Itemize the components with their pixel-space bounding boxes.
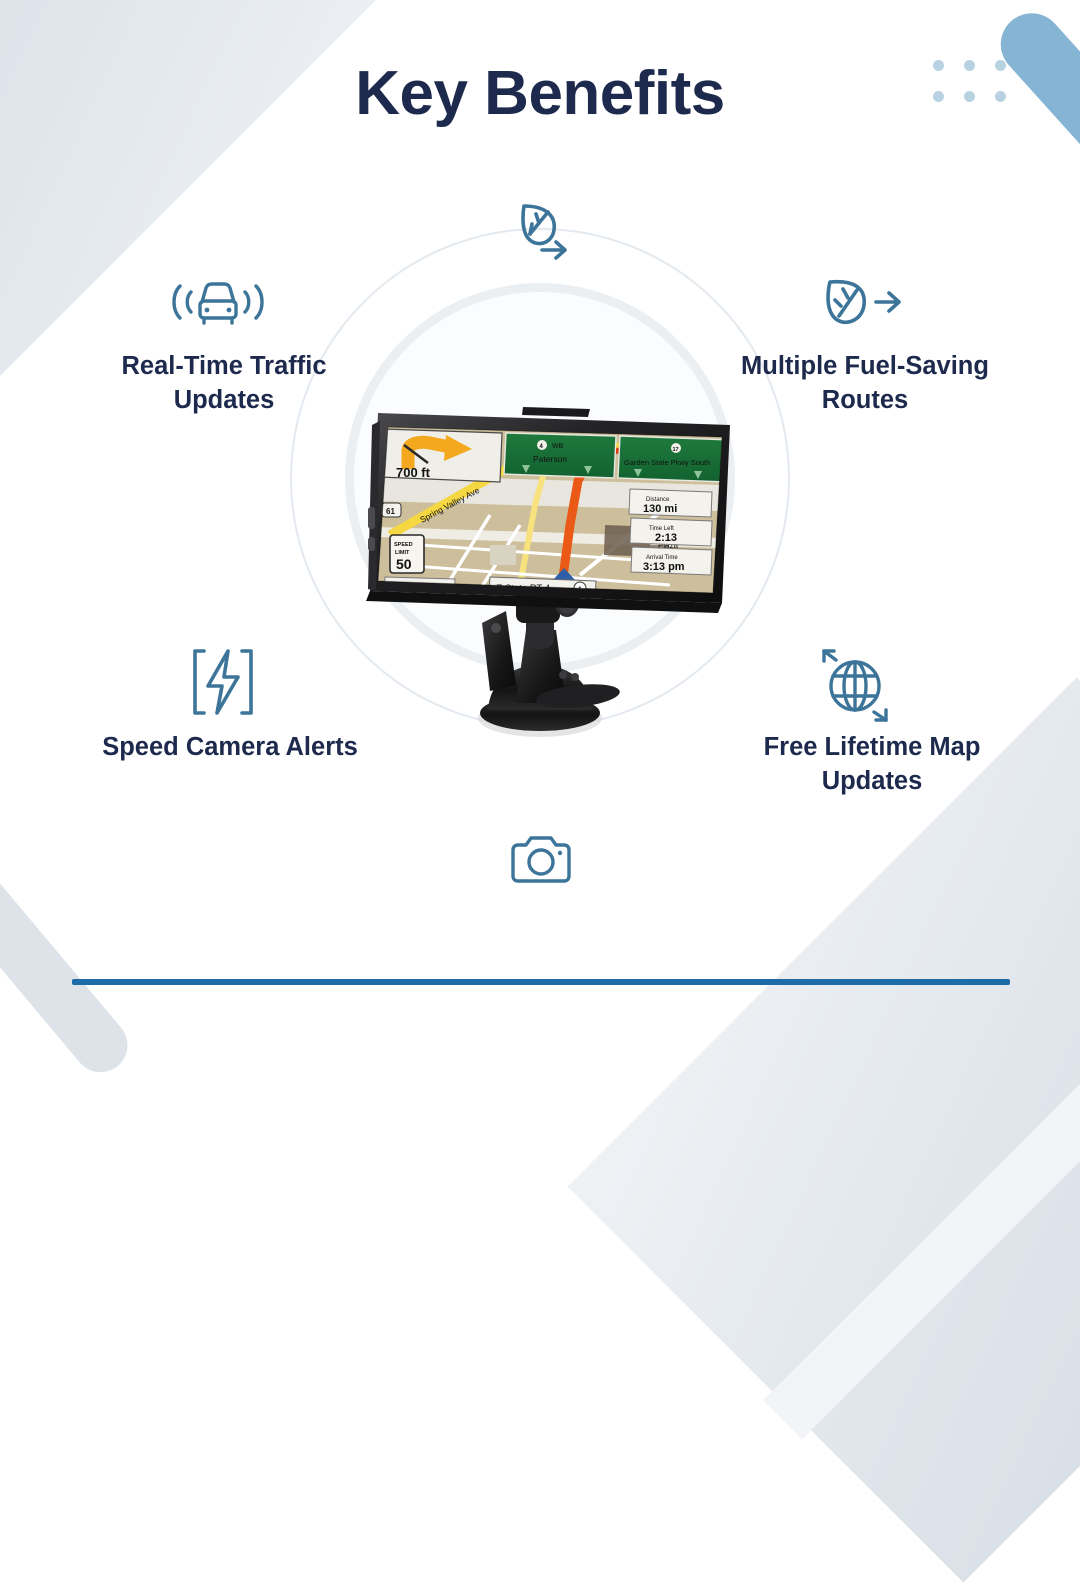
lightning-bolt-bracket-icon xyxy=(186,644,260,720)
benefit-label-speed-camera-alerts: Speed Camera Alerts xyxy=(80,731,380,765)
car-signal-icon xyxy=(166,272,270,334)
svg-text:Garden State Pkwy South: Garden State Pkwy South xyxy=(624,458,710,467)
svg-text:17: 17 xyxy=(673,447,679,453)
globe-expand-icon xyxy=(812,646,896,724)
svg-text:130 mi: 130 mi xyxy=(643,503,677,515)
svg-text:50: 50 xyxy=(396,556,412,572)
bottom-divider-rule xyxy=(72,979,1010,985)
page-title: Key Benefits xyxy=(0,58,1080,129)
svg-text:3:13 pm: 3:13 pm xyxy=(643,561,685,573)
leaf-arrow-icon xyxy=(818,272,904,332)
bottom-right-diagonal-band xyxy=(567,677,1080,1582)
benefit-label-real-time-traffic: Real-Time Traffic Updates xyxy=(74,350,374,418)
top-right-blue-bar xyxy=(988,1,1080,288)
gps-navigator-product-image: Spring Valley Ave Windsor Fenner 35 Plaz… xyxy=(330,385,760,745)
benefit-label-fuel-saving-routes: Multiple Fuel-Saving Routes xyxy=(700,350,1030,418)
svg-text:WB: WB xyxy=(552,443,564,450)
camera-icon xyxy=(508,834,574,886)
bottom-left-grey-bar xyxy=(0,849,138,1083)
svg-text:700 ft: 700 ft xyxy=(396,465,431,480)
svg-text:61: 61 xyxy=(386,507,395,516)
benefit-label-map-updates: Free Lifetime Map Updates xyxy=(712,731,1032,799)
svg-text:SPEED: SPEED xyxy=(394,542,413,548)
svg-text:2:13: 2:13 xyxy=(655,532,677,544)
svg-text:Paterson: Paterson xyxy=(533,454,567,464)
leaf-route-arrow-icon xyxy=(512,198,578,270)
gps-screen: Spring Valley Ave Windsor Fenner 35 Plaz… xyxy=(376,427,730,597)
